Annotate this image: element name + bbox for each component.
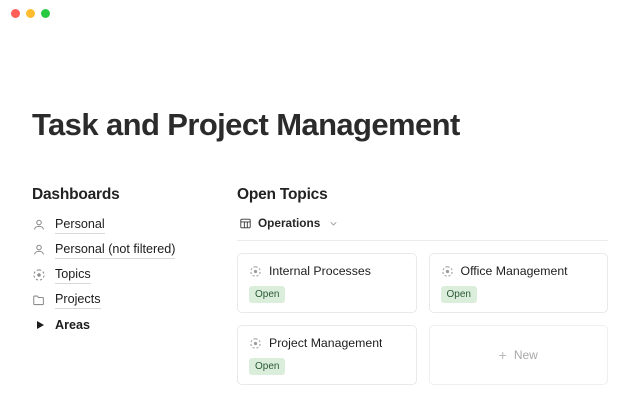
triangle-right-icon[interactable] [32, 318, 46, 332]
topic-card[interactable]: Internal Processes Open [237, 253, 417, 313]
open-topics-panel: Open Topics Operations [237, 186, 608, 385]
topics-card-grid: Internal Processes Open Office Managemen… [237, 253, 608, 385]
card-header: Office Management [441, 264, 597, 278]
window-close-button[interactable] [11, 9, 20, 18]
status-badge: Open [249, 358, 285, 375]
sidebar-item-label: Projects [55, 291, 101, 309]
sidebar-item-personal[interactable]: Personal [32, 213, 237, 237]
card-header: Project Management [249, 336, 405, 350]
plus-icon: + [499, 348, 507, 362]
dashboards-sidebar: Dashboards Personal [32, 186, 237, 338]
sidebar-item-label: Areas [55, 317, 90, 334]
card-title: Office Management [461, 264, 568, 278]
sidebar-item-label: Personal (not filtered) [55, 241, 175, 259]
content-columns: Dashboards Personal [32, 186, 608, 385]
sidebar-item-areas[interactable]: Areas [32, 313, 237, 337]
target-icon [441, 265, 454, 278]
tab-label: Operations [258, 216, 320, 230]
target-icon [249, 265, 262, 278]
view-tabs: Operations [237, 213, 608, 233]
open-topics-heading: Open Topics [237, 186, 608, 204]
status-badge: Open [249, 286, 285, 303]
status-badge: Open [441, 286, 477, 303]
sidebar-item-personal-not-filtered[interactable]: Personal (not filtered) [32, 238, 237, 262]
person-icon [32, 218, 46, 232]
folder-icon [32, 293, 46, 307]
tab-operations[interactable]: Operations [237, 213, 341, 233]
person-icon [32, 243, 46, 257]
topic-card[interactable]: Project Management Open [237, 325, 417, 385]
new-card-label: New [514, 348, 538, 362]
chevron-down-icon[interactable] [328, 218, 339, 229]
sidebar-item-label: Personal [55, 216, 105, 234]
table-grid-icon [239, 217, 252, 230]
target-icon [32, 268, 46, 282]
tabs-divider [237, 240, 608, 241]
sidebar-item-label: Topics [55, 266, 91, 284]
new-topic-card[interactable]: + New [429, 325, 609, 385]
page-title: Task and Project Management [32, 26, 608, 142]
page-content: Task and Project Management Dashboards P… [0, 26, 640, 385]
card-header: Internal Processes [249, 264, 405, 278]
window-maximize-button[interactable] [41, 9, 50, 18]
sidebar-item-projects[interactable]: Projects [32, 288, 237, 312]
window-titlebar [0, 0, 640, 26]
dashboards-list: Personal Personal (not filtered) [32, 213, 237, 337]
target-icon [249, 337, 262, 350]
dashboards-heading: Dashboards [32, 186, 237, 204]
card-title: Internal Processes [269, 264, 371, 278]
card-title: Project Management [269, 336, 382, 350]
sidebar-item-topics[interactable]: Topics [32, 263, 237, 287]
topic-card[interactable]: Office Management Open [429, 253, 609, 313]
window-minimize-button[interactable] [26, 9, 35, 18]
